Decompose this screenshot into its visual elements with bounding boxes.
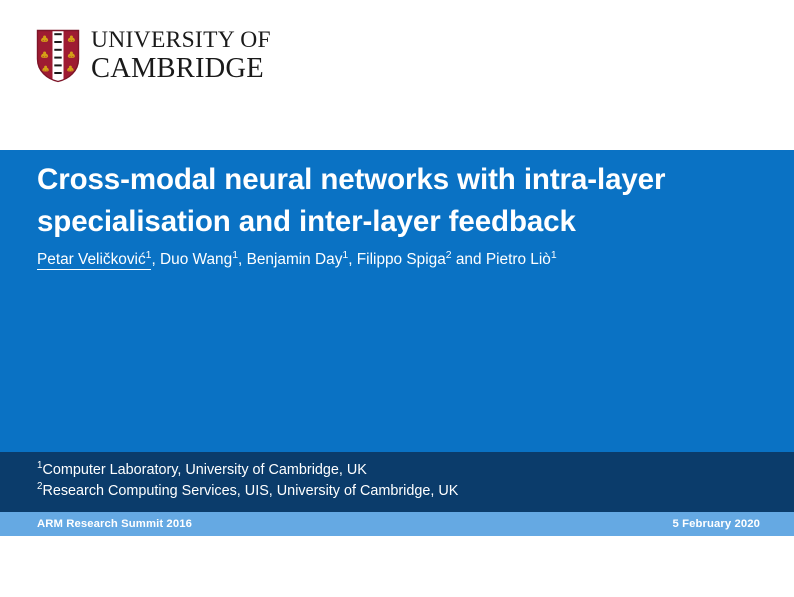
author-name-text: Pietro Liò [486,251,551,268]
footer-date-label: 5 February 2020 [672,518,760,530]
author-separator: , [238,251,247,268]
cambridge-crest-icon [36,29,80,83]
page-title: Cross-modal neural networks with intra-l… [37,159,737,242]
author-name-text: Petar Veličković [37,251,146,268]
affiliation-text: Computer Laboratory, University of Cambr… [42,462,366,478]
author-entry: Petar Veličković1, [37,251,160,270]
author-entry: Filippo Spiga2 and [357,251,486,268]
logo-line-university-of: UNIVERSITY OF [91,29,271,53]
slide-footer: ARM Research Summit 2016 5 February 2020 [0,512,794,536]
author-name: Petar Veličković1 [37,251,151,270]
author-name-text: Benjamin Day [247,251,343,268]
affiliation-list: 1Computer Laboratory, University of Camb… [37,460,458,503]
author-entry: Pietro Liò1 [486,251,557,268]
affiliation-item: 1Computer Laboratory, University of Camb… [37,460,458,481]
author-name-text: Duo Wang [160,251,232,268]
university-logo-wordmark: UNIVERSITY OF CAMBRIDGE [91,29,271,83]
author-separator: and [452,251,486,268]
university-logo: UNIVERSITY OF CAMBRIDGE [36,29,271,83]
author-list: Petar Veličković1, Duo Wang1, Benjamin D… [37,251,767,269]
logo-line-cambridge: CAMBRIDGE [91,55,271,84]
slide-header: UNIVERSITY OF CAMBRIDGE [0,0,794,150]
author-name: Benjamin Day1 [247,251,349,268]
author-name-text: Filippo Spiga [357,251,446,268]
affiliation-item: 2Research Computing Services, UIS, Unive… [37,481,458,502]
author-affiliation-marker: 1 [551,250,557,261]
footer-event-label: ARM Research Summit 2016 [37,518,192,530]
author-separator: , [348,251,357,268]
author-name: Filippo Spiga2 [357,251,452,268]
author-entry: Benjamin Day1, [247,251,357,268]
author-entry: Duo Wang1, [160,251,247,268]
author-name: Duo Wang1 [160,251,238,268]
affiliations-band: 1Computer Laboratory, University of Camb… [0,452,794,512]
author-name: Pietro Liò1 [486,251,557,268]
presentation-title-slide: UNIVERSITY OF CAMBRIDGE Cross-modal neur… [0,0,794,597]
affiliation-text: Research Computing Services, UIS, Univer… [42,483,458,499]
author-separator: , [151,251,160,268]
